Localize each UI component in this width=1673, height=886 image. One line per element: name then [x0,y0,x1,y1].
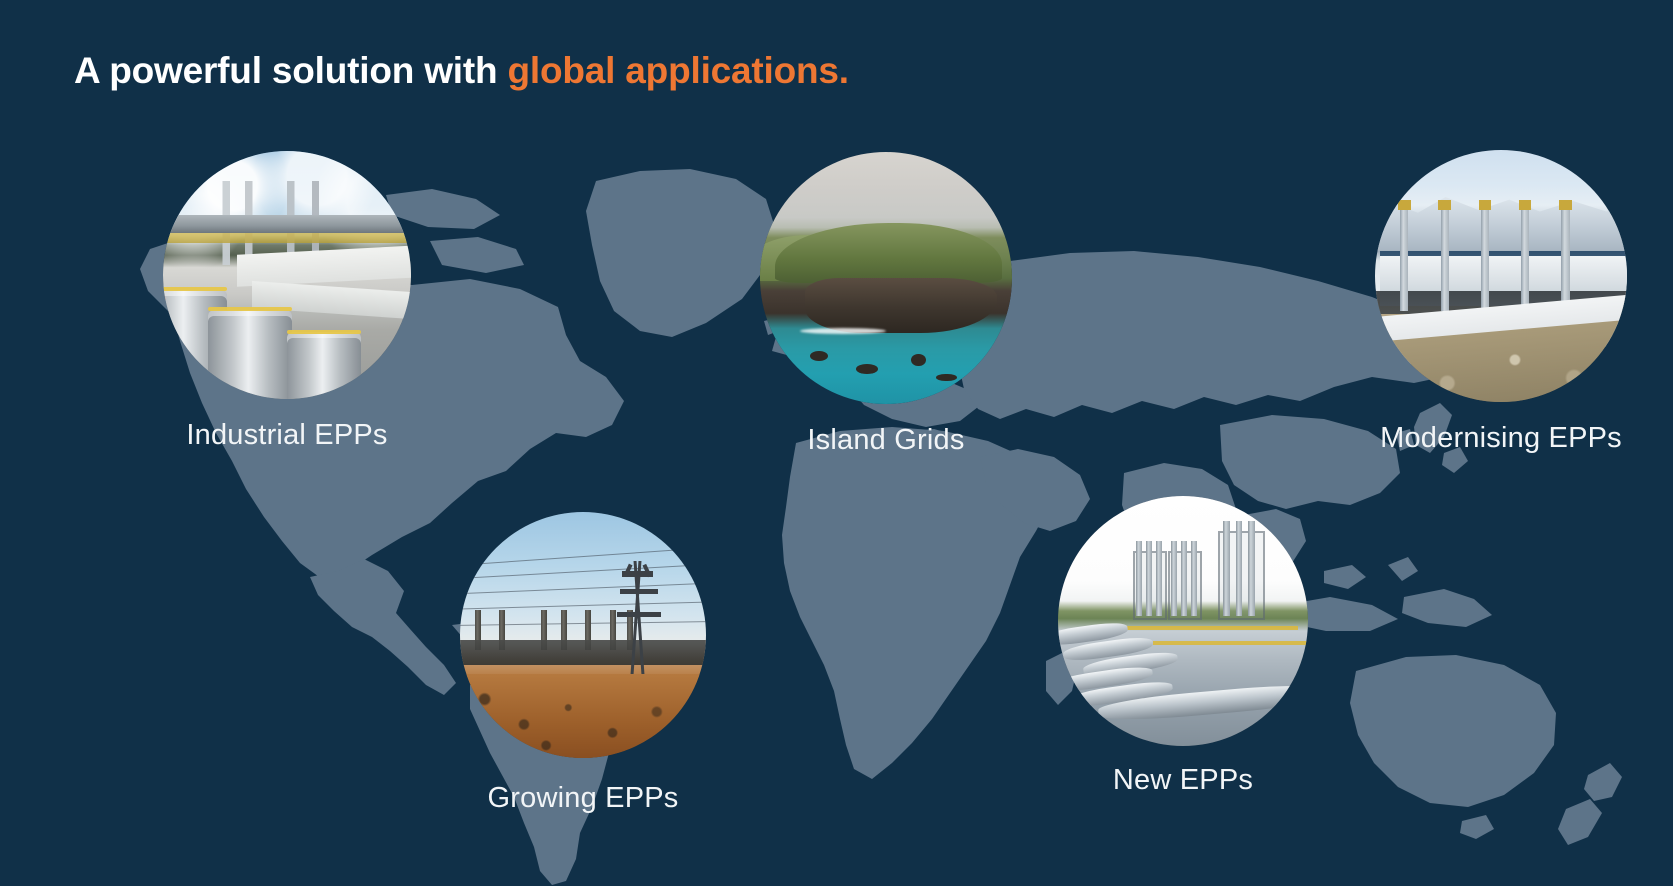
page-title: A powerful solution with global applicat… [74,49,849,93]
island-grids-image [760,152,1012,404]
node-island-grids[interactable]: Island Grids [760,152,1012,404]
modernising-epps-image [1375,150,1627,402]
node-growing-epps[interactable]: Growing EPPs [460,512,706,758]
page-title-accent: global applications. [507,50,848,91]
node-modernising-epps[interactable]: Modernising EPPs [1375,150,1627,402]
new-epps-label: New EPPs [1113,764,1253,797]
transmission-pylon-icon [610,561,664,689]
growing-epps-image [460,512,706,758]
new-epps-image [1058,496,1308,746]
industrial-epps-label: Industrial EPPs [186,419,387,452]
modernising-epps-label: Modernising EPPs [1380,422,1622,455]
growing-epps-label: Growing EPPs [488,782,679,815]
node-industrial-epps[interactable]: Industrial EPPs [163,151,411,399]
industrial-epps-image [163,151,411,399]
island-grids-label: Island Grids [807,424,964,457]
node-new-epps[interactable]: New EPPs [1058,496,1308,746]
slide-canvas: A powerful solution with global applicat… [0,0,1673,886]
page-title-lead: A powerful solution with [74,50,507,91]
